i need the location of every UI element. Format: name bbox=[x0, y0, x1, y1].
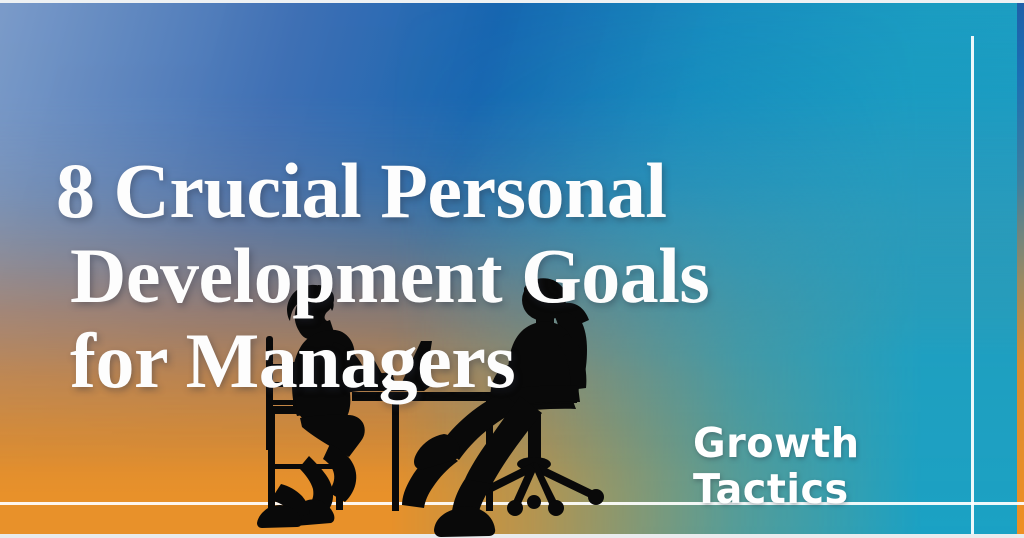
bottom-frame-edge bbox=[0, 534, 1024, 538]
blog-header-banner: 8 Crucial Personal Development Goals for… bbox=[0, 0, 1024, 538]
page-title-line-1: 8 Crucial Personal bbox=[56, 148, 886, 233]
top-frame-edge bbox=[0, 0, 1024, 3]
page-title: 8 Crucial Personal Development Goals for… bbox=[56, 148, 886, 403]
page-title-line-2: Development Goals bbox=[56, 233, 886, 318]
page-title-line-3: for Managers bbox=[56, 318, 886, 403]
brand-wordmark: Growth Tactics bbox=[693, 420, 1014, 512]
right-edge-accent-strip bbox=[1017, 0, 1024, 538]
